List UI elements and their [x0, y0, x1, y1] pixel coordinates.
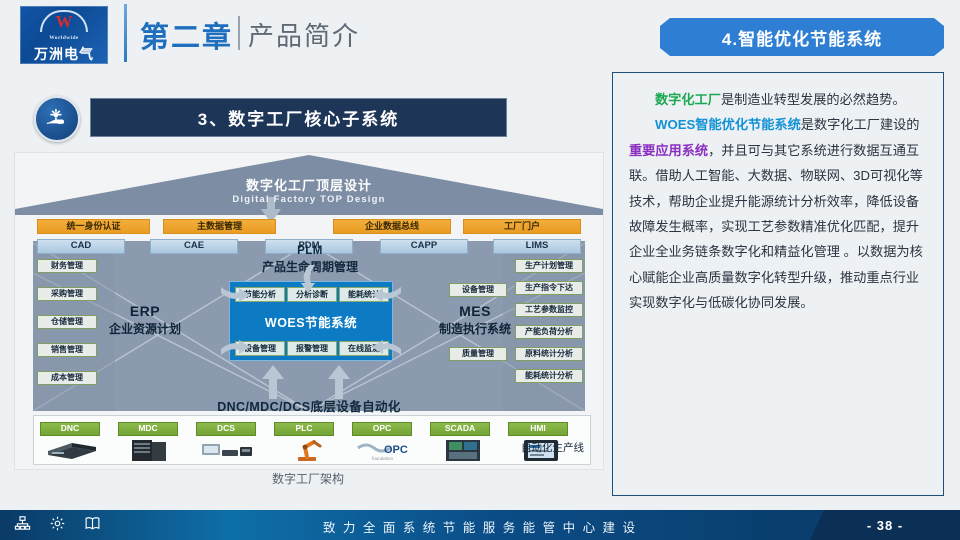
robot-arm-icon — [276, 438, 340, 462]
mes-module-4[interactable]: 原料统计分析 — [515, 347, 583, 361]
digital-factory-architecture-diagram: 数字化工厂顶层设计 Digital Factory TOP Design 统一身… — [14, 152, 604, 470]
mes-module-5[interactable]: 能耗统计分析 — [515, 369, 583, 383]
description-panel: 数字化工厂是制造业转型发展的必然趋势。 WOES智能优化节能系统是数字化工厂建设… — [612, 72, 944, 496]
erp-module-3[interactable]: 销售管理 — [37, 343, 97, 357]
roof-title-en: Digital Factory TOP Design — [15, 194, 603, 205]
highlight-digital-factory: 数字化工厂 — [655, 92, 721, 107]
chapter-separator — [238, 16, 240, 50]
page-number-box: - 38 - — [810, 510, 960, 540]
description-p2-text-2: ，并且可与其它系统进行数据互通互联。借助人工智能、大数据、物联网、3D可视化等技… — [629, 143, 923, 310]
mes-module-2[interactable]: 工艺参数监控 — [515, 303, 583, 317]
footer-bar: 致 力 全 面 系 统 节 能 服 务 能 管 中 心 建 设 - 38 - — [0, 510, 960, 540]
highlight-woes-system: WOES智能优化节能系统 — [655, 117, 801, 132]
device-label-0[interactable]: DNC — [40, 422, 100, 436]
woes-flow-arrows-icon — [211, 263, 411, 373]
opc-logo-icon: OPC foundation — [354, 438, 418, 462]
company-logo: W Worldwide 万洲电气 — [20, 6, 108, 64]
platform-service-0[interactable]: 统一身份认证 — [37, 219, 150, 234]
page-number: - 38 - — [867, 518, 903, 533]
control-room-icon — [432, 438, 496, 462]
mes-mid-module-0[interactable]: 设备管理 — [449, 283, 507, 297]
device-label-3[interactable]: PLC — [274, 422, 334, 436]
erp-module-0[interactable]: 财务管理 — [37, 259, 97, 273]
erp-module-1[interactable]: 采购管理 — [37, 287, 97, 301]
device-row: DNC MDC DCS — [33, 415, 591, 465]
diagram-caption: 数字工厂架构 — [14, 470, 602, 487]
chapter-title: 第二章 — [140, 14, 233, 56]
header-divider — [124, 4, 127, 62]
slide-root: W Worldwide 万洲电气 第二章 产品简介 4.智能优化节能系统 3、数… — [0, 0, 960, 540]
description-paragraph-1: 数字化工厂是制造业转型发展的必然趋势。 — [629, 87, 927, 112]
device-label-2[interactable]: DCS — [196, 422, 256, 436]
description-p2-text-1: 是数字化工厂建设的 — [801, 117, 920, 132]
device-label-6[interactable]: HMI — [508, 422, 568, 436]
logo-chinese-name: 万洲电气 — [34, 44, 94, 64]
device-label-5[interactable]: SCADA — [430, 422, 490, 436]
bottom-layer-title: DNC/MDC/DCS底层设备自动化 — [15, 396, 603, 415]
mes-module-1[interactable]: 生产指令下达 — [515, 281, 583, 295]
plm-label-en: PLM — [195, 245, 425, 257]
svg-text:foundation: foundation — [372, 456, 394, 461]
highlight-key-application: 重要应用系统 — [629, 143, 708, 158]
svg-text:OPC: OPC — [384, 444, 408, 456]
erp-label-cn: 企业资源计划 — [85, 320, 205, 337]
hand-gear-icon — [34, 96, 80, 142]
topic-ribbon: 4.智能优化节能系统 — [660, 18, 944, 56]
platform-service-2[interactable]: 企业数据总线 — [333, 219, 451, 234]
description-p1-rest: 是制造业转型发展的必然趋势。 — [721, 92, 906, 107]
logo-emblem-icon: W — [40, 10, 88, 34]
device-label-4[interactable]: OPC — [352, 422, 412, 436]
description-paragraph-2: WOES智能优化节能系统是数字化工厂建设的重要应用系统，并且可与其它系统进行数据… — [629, 112, 927, 315]
production-line-label: 自动化生产线 — [521, 440, 584, 455]
erp-module-4[interactable]: 成本管理 — [37, 371, 97, 385]
section-title-label: 3、数字工厂核心子系统 — [198, 105, 399, 130]
logo-latin-name: Worldwide — [49, 35, 79, 41]
erp-label-en: ERP — [85, 303, 205, 319]
tool-layer-0[interactable]: CAD — [37, 239, 125, 254]
tool-layer-4[interactable]: LIMS — [493, 239, 581, 254]
mes-mid-module-1[interactable]: 质量管理 — [449, 347, 507, 361]
workstation-icon — [198, 438, 262, 462]
erp-block: ERP 企业资源计划 — [85, 303, 205, 337]
mes-module-3[interactable]: 产能负荷分析 — [515, 325, 583, 339]
cnc-controller-icon — [42, 438, 106, 462]
bottom-up-arrows-icon — [251, 365, 367, 399]
roof-title-cn: 数字化工厂顶层设计 — [15, 175, 603, 194]
mes-module-0[interactable]: 生产计划管理 — [515, 259, 583, 273]
section-title-bar: 3、数字工厂核心子系统 — [90, 98, 507, 137]
platform-service-3[interactable]: 工厂门户 — [463, 219, 581, 234]
server-cabinet-icon — [120, 438, 184, 462]
chapter-subtitle: 产品简介 — [248, 16, 360, 53]
logo-wordmark: W — [40, 13, 88, 30]
topic-ribbon-label: 4.智能优化节能系统 — [722, 25, 882, 50]
erp-module-2[interactable]: 仓储管理 — [37, 315, 97, 329]
device-label-1[interactable]: MDC — [118, 422, 178, 436]
platform-service-1[interactable]: 主数据管理 — [163, 219, 276, 234]
